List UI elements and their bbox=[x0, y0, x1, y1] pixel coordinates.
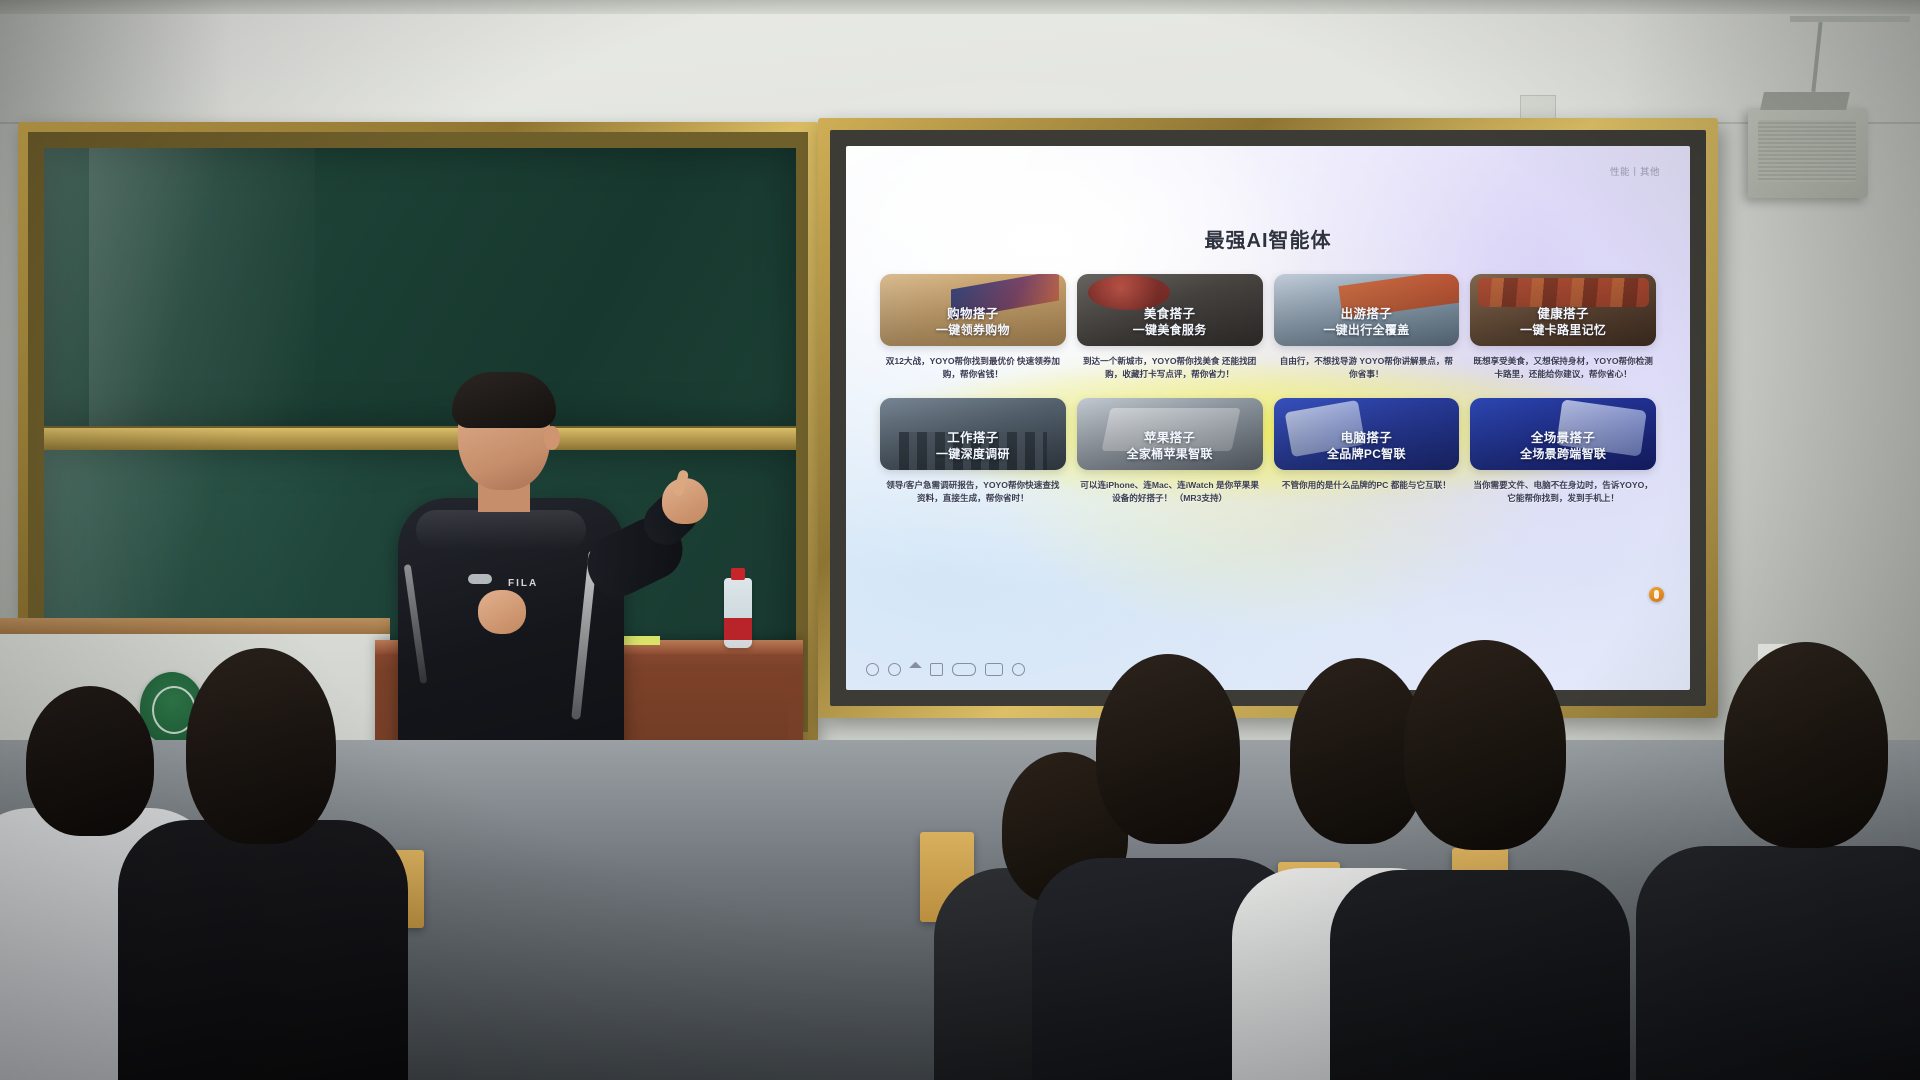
card-row-1: 购物搭子 一键领券购物 美食搭子 一键美食服务 bbox=[880, 274, 1656, 346]
audience-member-7-head bbox=[1724, 642, 1888, 848]
card-title: 全场景搭子 bbox=[1470, 431, 1656, 447]
card-subtitle: 一键美食服务 bbox=[1077, 323, 1263, 338]
card-title: 美食搭子 bbox=[1077, 307, 1263, 323]
presenter-shoulder-highlight bbox=[416, 510, 586, 550]
chalkboard-sheen-2 bbox=[89, 148, 315, 426]
desc-work: 领导/客户急需调研报告，YOYO帮你快速查找资料，直接生成，帮你省时！ bbox=[880, 479, 1066, 506]
wall-speaker bbox=[1748, 108, 1868, 198]
card-subtitle: 一键领券购物 bbox=[880, 323, 1066, 338]
audience-member-1-head bbox=[26, 686, 154, 836]
card-food-text: 美食搭子 一键美食服务 bbox=[1077, 307, 1263, 338]
presenter-apparel-logo: FILA bbox=[508, 578, 538, 589]
card-apple-text: 苹果搭子 全家桶苹果智联 bbox=[1077, 431, 1263, 462]
card-subtitle: 全家桶苹果智联 bbox=[1077, 447, 1263, 462]
classroom-scene: 性能丨其他 最强AI智能体 购物搭子 一键领券购物 bbox=[0, 0, 1920, 1080]
card-travel-text: 出游搭子 一键出行全覆盖 bbox=[1274, 307, 1460, 338]
card-all-scene-text: 全场景搭子 全场景跨端智联 bbox=[1470, 431, 1656, 462]
card-title: 电脑搭子 bbox=[1274, 431, 1460, 447]
audience-member-4-head bbox=[1096, 654, 1240, 844]
card-subtitle: 一键深度调研 bbox=[880, 447, 1066, 462]
card-work-text: 工作搭子 一键深度调研 bbox=[880, 431, 1066, 462]
audience-member-7-body bbox=[1636, 846, 1920, 1080]
card-food[interactable]: 美食搭子 一键美食服务 bbox=[1077, 274, 1263, 346]
card-health[interactable]: 健康搭子 一键卡路里记忆 bbox=[1470, 274, 1656, 346]
card-travel[interactable]: 出游搭子 一键出行全覆盖 bbox=[1274, 274, 1460, 346]
speaker-grill-icon bbox=[1758, 120, 1856, 182]
card-title: 购物搭子 bbox=[880, 307, 1066, 323]
presenter-hair bbox=[452, 372, 556, 428]
card-work[interactable]: 工作搭子 一键深度调研 bbox=[880, 398, 1066, 470]
description-row-2: 领导/客户急需调研报告，YOYO帮你快速查找资料，直接生成，帮你省时！ 可以连i… bbox=[880, 479, 1656, 506]
description-row-1: 双12大战，YOYO帮你找到最优价 快速领券加购，帮你省钱！ 到达一个新城市，Y… bbox=[880, 355, 1656, 382]
agent-card-grid: 购物搭子 一键领券购物 美食搭子 一键美食服务 bbox=[880, 274, 1656, 505]
card-title: 出游搭子 bbox=[1274, 307, 1460, 323]
card-title: 苹果搭子 bbox=[1077, 431, 1263, 447]
audience-member-6-body bbox=[1330, 870, 1630, 1080]
card-shopping[interactable]: 购物搭子 一键领券购物 bbox=[880, 274, 1066, 346]
desc-all-scene: 当你需要文件、电脑不在身边时，告诉YOYO，它能帮你找到，发到手机上！ bbox=[1470, 479, 1656, 506]
card-pc[interactable]: 电脑搭子 全品牌PC智联 bbox=[1274, 398, 1460, 470]
ceiling-conduit bbox=[1790, 16, 1910, 22]
speaker-bracket bbox=[1760, 92, 1850, 110]
desc-travel: 自由行，不想找导游 YOYO帮你讲解景点，帮你省事！ bbox=[1274, 355, 1460, 382]
card-all-scene[interactable]: 全场景搭子 全场景跨端智联 bbox=[1470, 398, 1656, 470]
bottle-cap bbox=[731, 568, 745, 580]
desc-shopping: 双12大战，YOYO帮你找到最优价 快速领券加购，帮你省钱！ bbox=[880, 355, 1066, 382]
card-subtitle: 一键卡路里记忆 bbox=[1470, 323, 1656, 338]
desc-food: 到达一个新城市，YOYO帮你找美食 还能找团购，收藏打卡写点评，帮你省力！ bbox=[1077, 355, 1263, 382]
card-row-2: 工作搭子 一键深度调研 苹果搭子 全家桶苹果智联 bbox=[880, 398, 1656, 470]
desc-pc: 不管你用的是什么品牌的PC 都能与它互联！ bbox=[1274, 479, 1460, 506]
audience-member-2-body bbox=[118, 820, 408, 1080]
audience-member-2-head bbox=[186, 648, 336, 844]
card-apple[interactable]: 苹果搭子 全家桶苹果智联 bbox=[1077, 398, 1263, 470]
slide-kicker: 性能丨其他 bbox=[1610, 164, 1660, 178]
card-health-text: 健康搭子 一键卡路里记忆 bbox=[1470, 307, 1656, 338]
card-subtitle: 全场景跨端智联 bbox=[1470, 447, 1656, 462]
card-shopping-text: 购物搭子 一键领券购物 bbox=[880, 307, 1066, 338]
audience bbox=[0, 600, 1920, 1080]
desc-health: 既想享受美食，又想保持身材，YOYO帮你检测卡路里，还能给你建议，帮你省心！ bbox=[1470, 355, 1656, 382]
card-subtitle: 全品牌PC智联 bbox=[1274, 447, 1460, 462]
slide-title: 最强AI智能体 bbox=[846, 224, 1690, 253]
presenter-wristband bbox=[468, 574, 492, 584]
card-subtitle: 一键出行全覆盖 bbox=[1274, 323, 1460, 338]
card-title: 工作搭子 bbox=[880, 431, 1066, 447]
presenter-ear bbox=[544, 426, 560, 450]
audience-member-6-head bbox=[1404, 640, 1566, 850]
card-title: 健康搭子 bbox=[1470, 307, 1656, 323]
desc-apple: 可以连iPhone、连Mac、连iWatch 是你苹果果设备的好搭子！ （MR3… bbox=[1077, 479, 1263, 506]
card-pc-text: 电脑搭子 全品牌PC智联 bbox=[1274, 431, 1460, 462]
